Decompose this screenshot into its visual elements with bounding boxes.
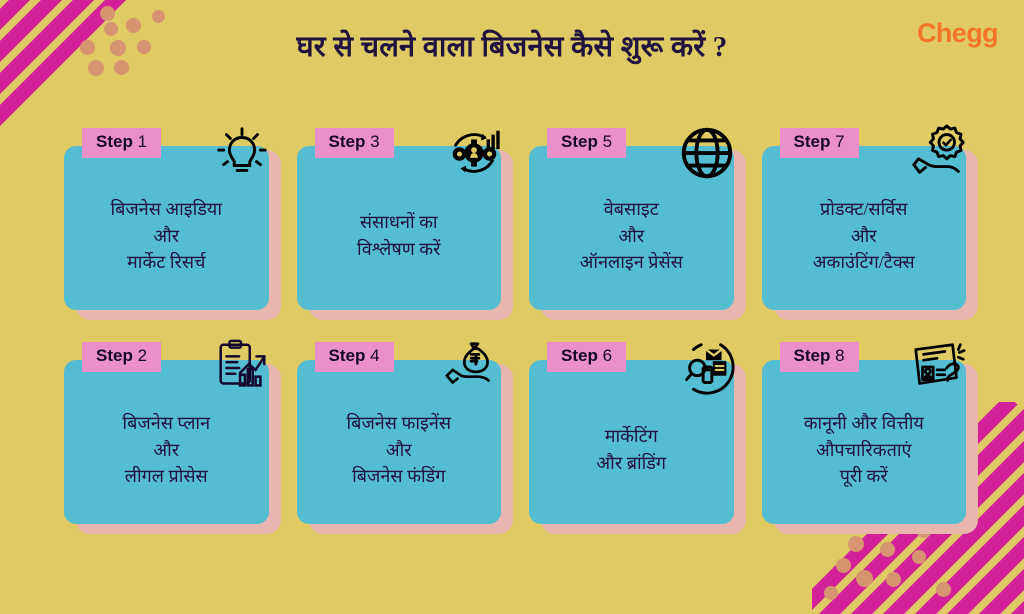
- step-number: 4: [370, 346, 379, 365]
- step-number: 3: [370, 132, 379, 151]
- hand-badge-icon: [908, 122, 970, 184]
- step-text: मार्केटिंग और ब्रांडिंग: [596, 423, 666, 476]
- step-word: Step: [96, 132, 133, 151]
- step-card-8[interactable]: कानूनी और वित्तीय औपचारिकताएं पूरी करें …: [762, 342, 973, 524]
- step-number: 5: [603, 132, 612, 151]
- step-card-4[interactable]: बिजनेस फाइनेंस और बिजनेस फंडिंग Step 4: [297, 342, 508, 524]
- step-badge: Step 7: [780, 128, 859, 158]
- step-card-2[interactable]: बिजनेस प्लान और लीगल प्रोसेस Step 2: [64, 342, 275, 524]
- marketing-search-icon: [676, 336, 738, 398]
- money-bag-hand-icon: [443, 336, 505, 398]
- globe-icon: [676, 122, 738, 184]
- step-badge: Step 2: [82, 342, 161, 372]
- step-word: Step: [329, 132, 366, 151]
- step-word: Step: [561, 132, 598, 151]
- clipboard-chart-icon: [211, 336, 273, 398]
- lightbulb-icon: [211, 122, 273, 184]
- step-number: 8: [835, 346, 844, 365]
- step-number: 7: [835, 132, 844, 151]
- step-card-5[interactable]: वेबसाइट और ऑनलाइन प्रेसेंस Step 5: [529, 128, 740, 310]
- step-word: Step: [794, 132, 831, 151]
- step-badge: Step 4: [315, 342, 394, 372]
- infographic-canvas: घर से चलने वाला बिजनेस कैसे शुरू करें ? …: [0, 0, 1024, 614]
- step-card-7[interactable]: प्रोडक्ट/सर्विस और अकाउंटिंग/टैक्स Step …: [762, 128, 973, 310]
- step-word: Step: [794, 346, 831, 365]
- step-card-6[interactable]: मार्केटिंग और ब्रांडिंग Step 6: [529, 342, 740, 524]
- step-badge: Step 8: [780, 342, 859, 372]
- step-text: बिजनेस आइडिया और मार्केट रिसर्च: [110, 196, 222, 276]
- step-text: प्रोडक्ट/सर्विस और अकाउंटिंग/टैक्स: [813, 196, 915, 276]
- step-text: वेबसाइट और ऑनलाइन प्रेसेंस: [580, 196, 683, 276]
- step-card-3[interactable]: संसाधनों का विश्लेषण करें Step 3: [297, 128, 508, 310]
- step-number: 2: [138, 346, 147, 365]
- page-title: घर से चलने वाला बिजनेस कैसे शुरू करें ?: [0, 26, 1024, 65]
- dot-cluster-top-left: [0, 0, 210, 140]
- steps-grid: बिजनेस आइडिया और मार्केट रिसर्च Step 1 स…: [64, 128, 972, 524]
- step-word: Step: [561, 346, 598, 365]
- id-signature-icon: [908, 336, 970, 398]
- gears-analysis-icon: [443, 122, 505, 184]
- step-text: कानूनी और वित्तीय औपचारिकताएं पूरी करें: [804, 410, 924, 490]
- step-text: संसाधनों का विश्लेषण करें: [357, 209, 440, 262]
- step-number: 1: [138, 132, 147, 151]
- step-word: Step: [329, 346, 366, 365]
- step-text: बिजनेस फाइनेंस और बिजनेस फंडिंग: [347, 410, 452, 490]
- step-word: Step: [96, 346, 133, 365]
- step-badge: Step 5: [547, 128, 626, 158]
- step-card-1[interactable]: बिजनेस आइडिया और मार्केट रिसर्च Step 1: [64, 128, 275, 310]
- step-badge: Step 6: [547, 342, 626, 372]
- step-badge: Step 1: [82, 128, 161, 158]
- step-text: बिजनेस प्लान और लीगल प्रोसेस: [122, 410, 210, 490]
- chegg-logo: Chegg: [917, 18, 998, 49]
- step-badge: Step 3: [315, 128, 394, 158]
- step-number: 6: [603, 346, 612, 365]
